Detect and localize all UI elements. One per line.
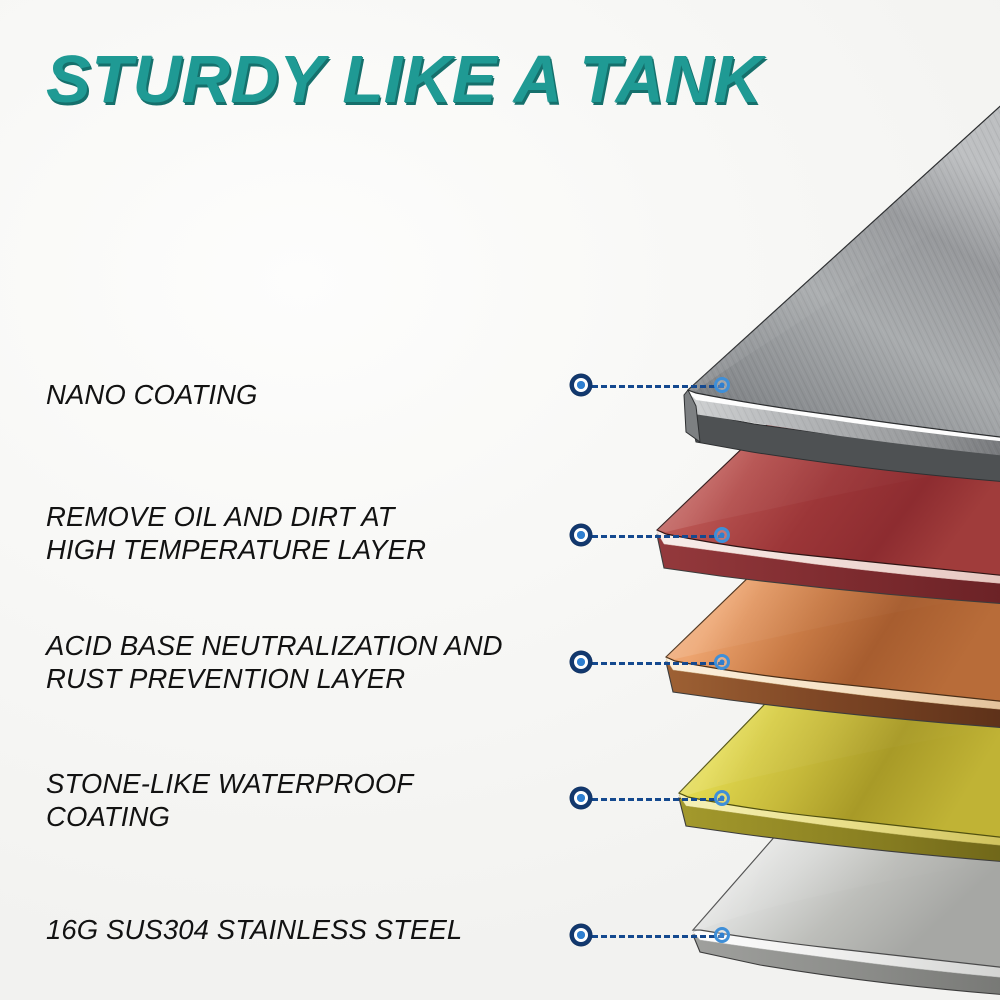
- layer-label-acid-base-l1: ACID BASE NEUTRALIZATION AND: [46, 630, 503, 661]
- callout-marker-3[interactable]: [570, 651, 592, 673]
- callout-endpoint-3[interactable]: [714, 654, 730, 670]
- layer-label-high-temperature-l1: REMOVE OIL AND DIRT AT: [46, 501, 395, 532]
- page-title: STURDY LIKE A TANK: [46, 46, 762, 113]
- callout-line-1: [592, 385, 724, 388]
- callout-marker-2-core: [577, 531, 585, 539]
- callout-marker-4-core: [577, 794, 585, 802]
- layer-label-acid-base: ACID BASE NEUTRALIZATION ANDRUST PREVENT…: [46, 629, 503, 695]
- callout-line-2: [592, 535, 724, 538]
- callout-endpoint-1-core: [720, 383, 725, 388]
- callout-endpoint-2[interactable]: [714, 527, 730, 543]
- callout-endpoint-5-core: [720, 933, 725, 938]
- callout-endpoint-4-core: [720, 796, 725, 801]
- layer-label-sus304-stainless: 16G SUS304 STAINLESS STEEL: [46, 913, 462, 947]
- callout-marker-4[interactable]: [570, 787, 592, 809]
- callout-marker-1[interactable]: [570, 374, 592, 396]
- layer-label-stone-like-waterproof: STONE-LIKE WATERPROOFCOATING: [46, 767, 413, 833]
- layer-label-nano-coating: NANO COATING: [46, 378, 258, 412]
- layer-label-stone-like-waterproof-l2: COATING: [46, 801, 170, 832]
- callout-endpoint-4[interactable]: [714, 790, 730, 806]
- callout-line-4: [592, 798, 724, 801]
- layer-label-high-temperature: REMOVE OIL AND DIRT ATHIGH TEMPERATURE L…: [46, 500, 426, 566]
- layer-label-acid-base-l2: RUST PREVENTION LAYER: [46, 663, 405, 694]
- layer-label-high-temperature-l2: HIGH TEMPERATURE LAYER: [46, 534, 426, 565]
- callout-line-5: [592, 935, 724, 938]
- layer-label-stone-like-waterproof-l1: STONE-LIKE WATERPROOF: [46, 768, 413, 799]
- callout-marker-5-core: [577, 931, 585, 939]
- callout-endpoint-1[interactable]: [714, 377, 730, 393]
- callout-endpoint-5[interactable]: [714, 927, 730, 943]
- callout-line-3: [592, 662, 724, 665]
- callout-endpoint-3-core: [720, 660, 725, 665]
- callout-marker-1-core: [577, 381, 585, 389]
- callout-marker-5[interactable]: [570, 924, 592, 946]
- callout-endpoint-2-core: [720, 533, 725, 538]
- diagram-canvas: STURDY LIKE A TANK NANO COATING REMOVE O…: [0, 0, 1000, 1000]
- callout-marker-2[interactable]: [570, 524, 592, 546]
- layer-1-nano-coating: [684, 99, 1000, 482]
- callout-marker-3-core: [577, 658, 585, 666]
